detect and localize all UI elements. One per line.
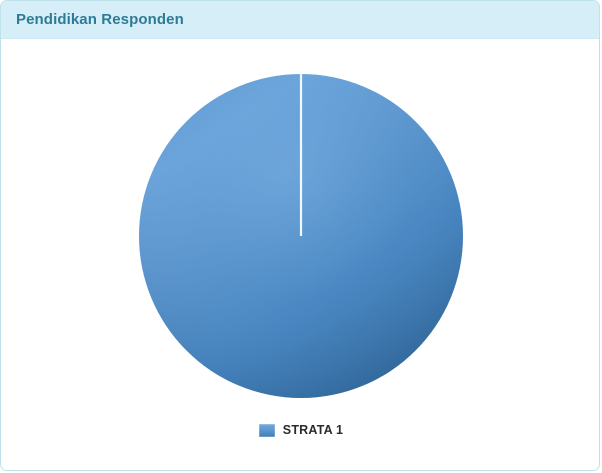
chart-plot-area: STRATA 1 — [1, 40, 600, 471]
pie-chart-svg — [1, 40, 600, 471]
chart-card: Pendidikan Responden — [0, 0, 600, 471]
legend-item-strata-1[interactable]: STRATA 1 — [259, 423, 343, 437]
card-header: Pendidikan Responden — [1, 1, 599, 39]
legend-swatch-icon — [259, 424, 275, 437]
legend-item-label: STRATA 1 — [283, 423, 343, 437]
page-title: Pendidikan Responden — [16, 11, 184, 28]
chart-legend: STRATA 1 — [1, 423, 600, 437]
pie-chart — [1, 40, 600, 471]
